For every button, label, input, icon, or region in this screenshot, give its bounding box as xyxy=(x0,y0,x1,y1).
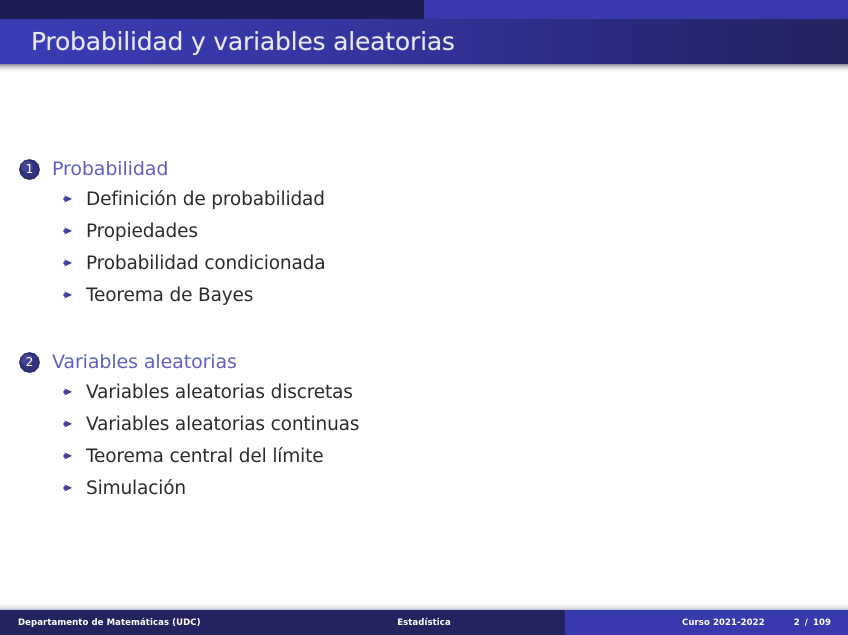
toc-section-block: 2 Variables aleatorias Variables aleator… xyxy=(0,348,848,504)
toc-section-label: Variables aleatorias xyxy=(52,351,237,373)
arrow-bullet-shape-icon xyxy=(62,288,76,302)
footer-author: Departamento de Matemáticas (UDC) xyxy=(18,618,201,628)
toc-subsection-label: Propiedades xyxy=(86,221,198,242)
arrow-bullet-icon xyxy=(62,224,76,238)
footer-author-segment: Departamento de Matemáticas (UDC) xyxy=(0,610,283,635)
nav-section-bar-left[interactable] xyxy=(0,0,424,19)
arrow-bullet-icon xyxy=(62,417,76,431)
arrow-bullet-shape-icon xyxy=(62,417,76,431)
toc-subsection-label: Teorema central del límite xyxy=(86,446,324,467)
footer-page-separator: / xyxy=(805,618,808,628)
arrow-bullet-icon xyxy=(62,385,76,399)
footer-bar: Departamento de Matemáticas (UDC) Estadí… xyxy=(0,610,848,635)
section-number: 1 xyxy=(19,159,40,180)
section-number: 2 xyxy=(19,352,40,373)
footer-subject-segment: Estadística xyxy=(283,610,565,635)
footer-page-info: Curso 2021-2022 2 / 109 xyxy=(682,618,831,628)
arrow-bullet-shape-icon xyxy=(62,256,76,270)
toc-subsection-item[interactable]: Teorema central del límite xyxy=(0,440,848,472)
toc-section-probabilidad[interactable]: 1 Probabilidad xyxy=(0,155,848,183)
page-title: Probabilidad y variables aleatorias xyxy=(0,27,455,56)
toc-subsection-label: Definición de probabilidad xyxy=(86,189,325,210)
section-number-ball-icon: 1 xyxy=(19,159,40,180)
toc-section-block: 1 Probabilidad Definición de probabilida… xyxy=(0,155,848,311)
toc-subsection-item[interactable]: Simulación xyxy=(0,472,848,504)
arrow-bullet-shape-icon xyxy=(62,224,76,238)
nav-section-bar-right[interactable] xyxy=(424,0,848,19)
footer-shadow xyxy=(0,603,848,610)
arrow-bullet-icon xyxy=(62,256,76,270)
footer-page-total: 109 xyxy=(813,618,831,628)
slide-body: 1 Probabilidad Definición de probabilida… xyxy=(0,73,848,603)
arrow-bullet-shape-icon xyxy=(62,192,76,206)
arrow-bullet-icon xyxy=(62,449,76,463)
arrow-bullet-shape-icon xyxy=(62,385,76,399)
footer-subject: Estadística xyxy=(397,618,451,628)
toc-subsection-item[interactable]: Variables aleatorias continuas xyxy=(0,408,848,440)
toc-subsection-item[interactable]: Probabilidad condicionada xyxy=(0,247,848,279)
footer-course: Curso 2021-2022 xyxy=(682,618,765,628)
navigation-bar xyxy=(0,0,848,19)
arrow-bullet-shape-icon xyxy=(62,481,76,495)
toc-subsection-item[interactable]: Definición de probabilidad xyxy=(0,183,848,215)
toc-subsection-item[interactable]: Propiedades xyxy=(0,215,848,247)
footer-page-segment: Curso 2021-2022 2 / 109 xyxy=(565,610,848,635)
toc-subsection-item[interactable]: Variables aleatorias discretas xyxy=(0,376,848,408)
section-number-ball-icon: 2 xyxy=(19,352,40,373)
arrow-bullet-icon xyxy=(62,192,76,206)
arrow-bullet-icon xyxy=(62,288,76,302)
toc-subsection-label: Simulación xyxy=(86,478,186,499)
arrow-bullet-icon xyxy=(62,481,76,495)
toc-subsection-label: Probabilidad condicionada xyxy=(86,253,325,274)
toc-subsection-label: Variables aleatorias continuas xyxy=(86,414,359,435)
arrow-bullet-shape-icon xyxy=(62,449,76,463)
beamer-slide: Probabilidad y variables aleatorias xyxy=(0,0,848,635)
toc-subsection-label: Teorema de Bayes xyxy=(86,285,253,306)
frame-title-bar: Probabilidad y variables aleatorias xyxy=(0,19,848,64)
title-bar-shadow xyxy=(0,64,848,73)
toc-section-label: Probabilidad xyxy=(52,158,168,180)
toc-subsection-item[interactable]: Teorema de Bayes xyxy=(0,279,848,311)
toc-section-variables-aleatorias[interactable]: 2 Variables aleatorias xyxy=(0,348,848,376)
footer-page-current: 2 xyxy=(794,618,800,628)
toc-subsection-label: Variables aleatorias discretas xyxy=(86,382,353,403)
